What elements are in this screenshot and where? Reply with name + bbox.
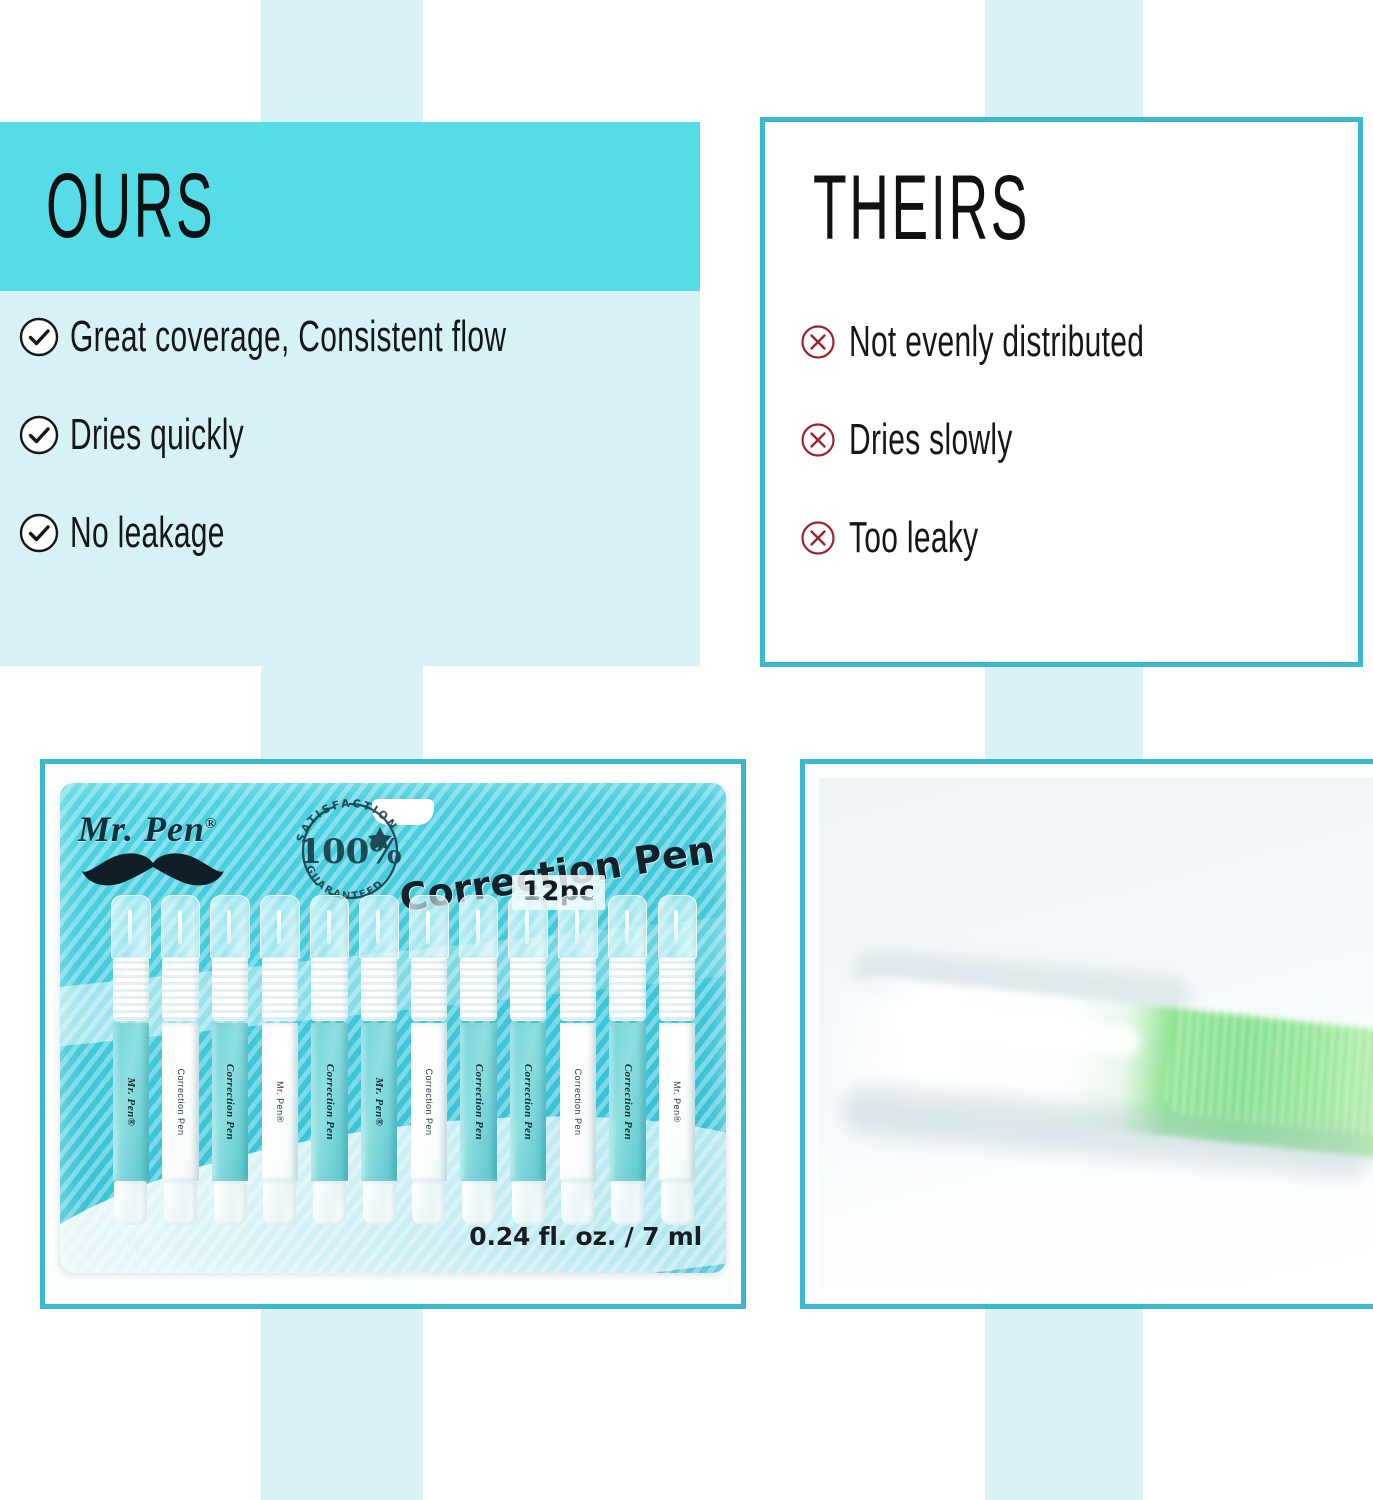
pen-label: Correction Pen <box>224 1064 236 1140</box>
pen-cap <box>409 895 448 959</box>
pen-grip <box>162 957 199 1021</box>
satisfaction-guarantee-stamp: SATISFACTION GUARANTEED 100% <box>288 797 412 901</box>
pen-cap <box>310 895 349 959</box>
pen-tail <box>661 1181 694 1225</box>
pen-barrel: Correction Pen <box>162 1023 199 1181</box>
ours-body: Great coverage, Consistent flow Dries qu… <box>0 291 700 666</box>
pen-barrel: Mr. Pen® <box>361 1023 398 1181</box>
pen-barrel: Correction Pen <box>560 1023 597 1181</box>
list-item-label: Too leaky <box>849 516 978 560</box>
pen-grip <box>460 957 497 1021</box>
pen-grip <box>113 957 150 1021</box>
pen-tail <box>114 1181 147 1225</box>
pen-tail <box>561 1181 594 1225</box>
pen-label: Correction Pen <box>573 1068 583 1135</box>
package-photo: Mr. Pen® SATISFACTION <box>54 773 732 1295</box>
ours-panel: OURS Great coverage, Consistent flow <box>0 122 700 666</box>
blister-card: Mr. Pen® SATISFACTION <box>60 783 726 1273</box>
list-item: No leakage <box>18 509 690 557</box>
pen-grip <box>411 957 448 1021</box>
list-item: Too leaky <box>797 514 1348 562</box>
check-circle-icon <box>18 414 60 456</box>
pen-item: Mr. Pen® <box>257 895 303 1225</box>
pen-cap <box>658 895 697 959</box>
check-circle-icon <box>18 316 60 358</box>
ours-title: OURS <box>46 160 215 252</box>
pen-item: Mr. Pen® <box>654 895 700 1225</box>
pen-cap <box>608 895 647 959</box>
pen-tail <box>313 1181 346 1225</box>
pen-item: Correction Pen <box>605 895 651 1225</box>
pen-item: Correction Pen <box>555 895 601 1225</box>
pen-tail <box>363 1181 396 1225</box>
pen-item: Correction Pen <box>207 895 253 1225</box>
list-item: Dries slowly <box>797 416 1348 464</box>
pen-label: Mr. Pen® <box>125 1078 137 1127</box>
pen-tail <box>512 1181 545 1225</box>
x-circle-icon <box>797 321 839 363</box>
pen-tail <box>164 1181 197 1225</box>
list-item: Great coverage, Consistent flow <box>18 313 690 361</box>
pen-item: Correction Pen <box>456 895 502 1225</box>
x-circle-icon <box>797 419 839 461</box>
pen-barrel: Correction Pen <box>212 1023 249 1181</box>
pen-item: Mr. Pen® <box>356 895 402 1225</box>
pen-item: Correction Pen <box>406 895 452 1225</box>
pen-label: Mr. Pen® <box>672 1081 682 1123</box>
package-photo-frame: Mr. Pen® SATISFACTION <box>40 759 746 1309</box>
pen-barrel: Mr. Pen® <box>659 1023 696 1181</box>
pen-label: Mr. Pen® <box>275 1081 285 1123</box>
pen-item: Mr. Pen® <box>108 895 154 1225</box>
volume-label: 0.24 fl. oz. / 7 ml <box>469 1222 702 1251</box>
list-item-label: Not evenly distributed <box>849 320 1144 364</box>
pen-cap <box>260 895 299 959</box>
ours-header-bar: OURS <box>0 122 700 291</box>
pen-label: Correction Pen <box>424 1068 434 1135</box>
list-item: Dries quickly <box>18 411 690 459</box>
list-item: Not evenly distributed <box>797 318 1348 366</box>
check-circle-icon <box>18 512 60 554</box>
list-item-label: Dries slowly <box>849 418 1013 462</box>
pen-barrel: Correction Pen <box>609 1023 646 1181</box>
theirs-title: THEIRS <box>813 162 1030 254</box>
pen-grip <box>311 957 348 1021</box>
pen-tail <box>462 1181 495 1225</box>
pen-grip <box>510 957 547 1021</box>
x-circle-icon <box>797 517 839 559</box>
ours-bullet-list: Great coverage, Consistent flow Dries qu… <box>18 313 690 607</box>
brand-logo: Mr. Pen® <box>78 811 268 889</box>
pen-label: Mr. Pen® <box>373 1078 385 1127</box>
pen-label: Correction Pen <box>622 1064 634 1140</box>
brand-name: Mr. Pen® <box>78 811 268 847</box>
theirs-bullet-list: Not evenly distributed Dries slowly Too … <box>797 318 1348 612</box>
pen-grip <box>659 957 696 1021</box>
pen-label: Correction Pen <box>324 1064 336 1140</box>
brand-name-text: Mr. Pen <box>78 809 205 849</box>
list-item-label: Dries quickly <box>70 413 244 457</box>
pen-label: Correction Pen <box>522 1064 534 1140</box>
pen-grip <box>609 957 646 1021</box>
pen-label: Correction Pen <box>473 1064 485 1140</box>
pen-cap <box>508 895 547 959</box>
mustache-icon <box>78 849 228 889</box>
macro-photo-frame <box>800 759 1373 1309</box>
trademark-symbol: ® <box>205 816 217 832</box>
pen-tail <box>214 1181 247 1225</box>
list-item-label: Great coverage, Consistent flow <box>70 315 506 359</box>
pen-barrel: Mr. Pen® <box>262 1023 299 1181</box>
pen-barrel: Correction Pen <box>411 1023 448 1181</box>
pen-item: Correction Pen <box>158 895 204 1225</box>
pen-label: Correction Pen <box>176 1068 186 1135</box>
pen-tray: Mr. Pen® Correction Pen Correction Pen M… <box>108 895 700 1225</box>
theirs-panel: THEIRS Not evenly distributed Dries slow… <box>760 117 1363 667</box>
pen-cap <box>111 895 150 959</box>
pen-cap <box>459 895 498 959</box>
list-item-label: No leakage <box>70 511 225 555</box>
pen-tail <box>263 1181 296 1225</box>
pen-barrel: Correction Pen <box>311 1023 348 1181</box>
pen-tail <box>611 1181 644 1225</box>
pen-grip <box>560 957 597 1021</box>
pen-tail <box>412 1181 445 1225</box>
pen-cap <box>359 895 398 959</box>
pen-item: Correction Pen <box>505 895 551 1225</box>
pen-item: Correction Pen <box>307 895 353 1225</box>
pen-grip <box>262 957 299 1021</box>
pen-barrel: Correction Pen <box>460 1023 497 1181</box>
pen-barrel: Correction Pen <box>510 1023 547 1181</box>
pen-barrel: Mr. Pen® <box>113 1023 150 1181</box>
pen-cap <box>161 895 200 959</box>
pen-grip <box>361 957 398 1021</box>
pen-cap <box>210 895 249 959</box>
pen-grip <box>212 957 249 1021</box>
pen-cap <box>558 895 597 959</box>
macro-photo <box>819 778 1373 1290</box>
